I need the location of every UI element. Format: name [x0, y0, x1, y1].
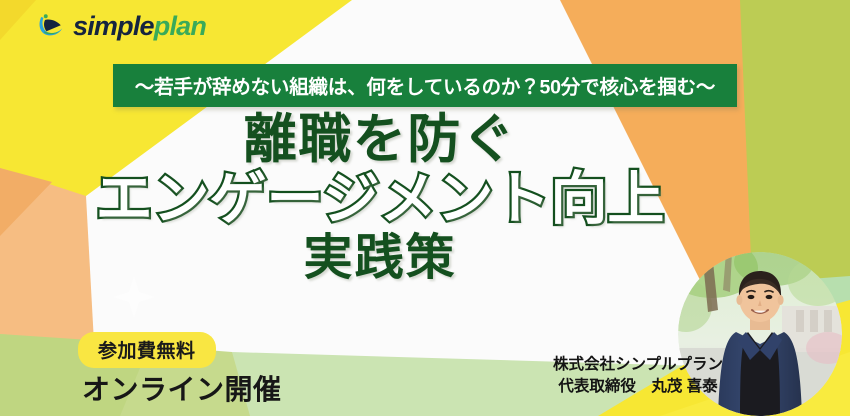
fee-badge: 参加費無料	[78, 332, 216, 368]
brand-wordmark: simpleplan	[73, 13, 206, 40]
brand-logo[interactable]: simpleplan	[36, 11, 206, 41]
headline-line-3: 実践策	[0, 233, 760, 285]
brand-name-part1: simple	[73, 11, 154, 41]
subtitle-ribbon: 〜若手が辞めない組織は、何をしているのか？50分で核心を掴む〜	[113, 64, 737, 107]
fee-badge-label: 参加費無料	[98, 341, 196, 362]
speaker-role-and-name: 代表取締役 丸茂 喜泰	[528, 376, 748, 398]
webinar-banner: simpleplan 〜若手が辞めない組織は、何をしているのか？50分で核心を掴…	[0, 0, 850, 416]
headline-line-2: エンゲージメント向上	[0, 169, 760, 229]
wedge-top-left-yellow-edge	[0, 0, 36, 40]
headline-block: 離職を防ぐ エンゲージメント向上 実践策	[0, 112, 760, 284]
speaker-company: 株式会社シンプルプラン	[528, 354, 748, 376]
speaker-credit: 株式会社シンプルプラン 代表取締役 丸茂 喜泰	[528, 354, 748, 398]
swoosh-wave-icon	[36, 11, 66, 41]
event-format-label: オンライン開催	[82, 368, 282, 408]
subtitle-text: 〜若手が辞めない組織は、何をしているのか？50分で核心を掴む〜	[135, 71, 715, 100]
headline-line-1: 離職を防ぐ	[0, 112, 760, 167]
brand-name-part2: plan	[154, 11, 206, 41]
